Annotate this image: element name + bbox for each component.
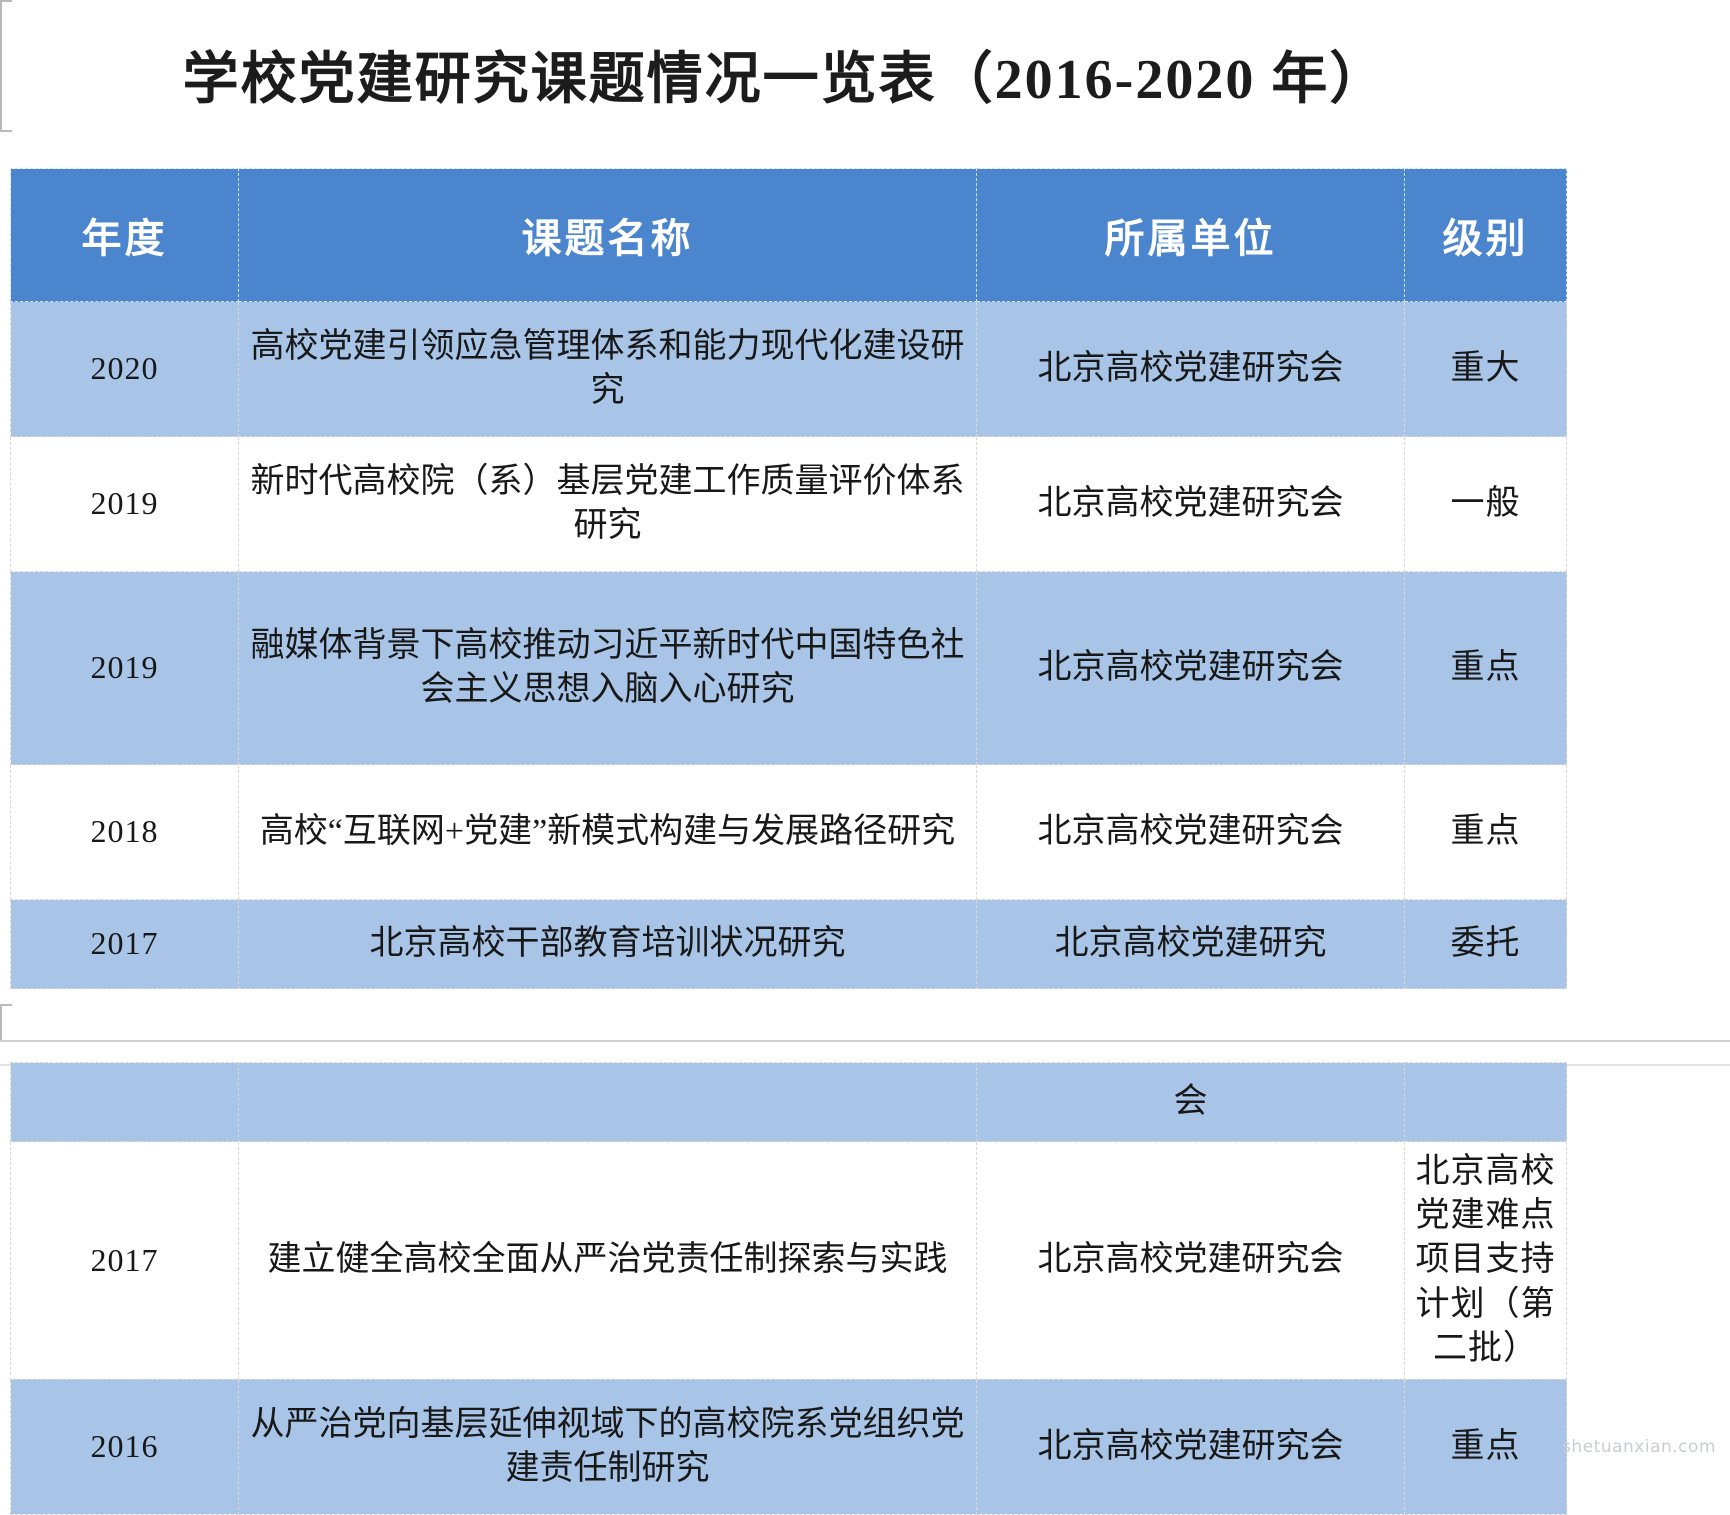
cell-year: 2018 (11, 765, 239, 900)
table-row: 2019 新时代高校院（系）基层党建工作质量评价体系研究 北京高校党建研究会 一… (11, 437, 1567, 572)
cell-name: 北京高校干部教育培训状况研究 (239, 900, 977, 989)
cell-name: 融媒体背景下高校推动习近平新时代中国特色社会主义思想入脑入心研究 (239, 572, 977, 765)
cell-year: 2017 (11, 900, 239, 989)
table-row: 2019 融媒体背景下高校推动习近平新时代中国特色社会主义思想入脑入心研究 北京… (11, 572, 1567, 765)
cell-level: 重点 (1405, 765, 1567, 900)
cell-level (1405, 1063, 1567, 1142)
cell-level: 北京高校党建难点项目支持计划（第二批） (1405, 1142, 1567, 1380)
cell-unit: 北京高校党建研究会 (977, 765, 1405, 900)
cell-unit: 北京高校党建研究会 (977, 302, 1405, 437)
cell-year: 2019 (11, 572, 239, 765)
research-topics-table-bottom: 会 2017 建立健全高校全面从严治党责任制探索与实践 北京高校党建研究会 北京… (10, 1062, 1567, 1515)
site-watermark: shetuanxian.com (1562, 1437, 1716, 1457)
cell-name: 新时代高校院（系）基层党建工作质量评价体系研究 (239, 437, 977, 572)
table-row: 2017 北京高校干部教育培训状况研究 北京高校党建研究 委托 (11, 900, 1567, 989)
table-row: 2020 高校党建引领应急管理体系和能力现代化建设研究 北京高校党建研究会 重大 (11, 302, 1567, 437)
column-header-name: 课题名称 (239, 169, 977, 302)
cell-unit: 北京高校党建研究会 (977, 1142, 1405, 1380)
cell-year: 2017 (11, 1142, 239, 1380)
cell-level: 一般 (1405, 437, 1567, 572)
cell-year: 2016 (11, 1379, 239, 1514)
table-row: 2018 高校“互联网+党建”新模式构建与发展路径研究 北京高校党建研究会 重点 (11, 765, 1567, 900)
cell-unit: 北京高校党建研究会 (977, 1379, 1405, 1514)
cell-level: 重点 (1405, 1379, 1567, 1514)
table-row: 2017 建立健全高校全面从严治党责任制探索与实践 北京高校党建研究会 北京高校… (11, 1142, 1567, 1380)
column-header-unit: 所属单位 (977, 169, 1405, 302)
cell-name: 建立健全高校全面从严治党责任制探索与实践 (239, 1142, 977, 1380)
table-row-continuation: 会 (11, 1063, 1567, 1142)
research-topics-table-top: 年度 课题名称 所属单位 级别 2020 高校党建引领应急管理体系和能力现代化建… (10, 168, 1567, 989)
page-title: 学校党建研究课题情况一览表（2016-2020 年） (0, 34, 1570, 115)
cell-level: 委托 (1405, 900, 1567, 989)
cell-level: 重大 (1405, 302, 1567, 437)
cell-name: 高校“互联网+党建”新模式构建与发展路径研究 (239, 765, 977, 900)
cell-unit: 会 (977, 1063, 1405, 1142)
table-row: 2016 从严治党向基层延伸视域下的高校院系党组织党建责任制研究 北京高校党建研… (11, 1379, 1567, 1514)
cell-year (11, 1063, 239, 1142)
cell-level: 重点 (1405, 572, 1567, 765)
cell-name: 高校党建引领应急管理体系和能力现代化建设研究 (239, 302, 977, 437)
page-title-text: 学校党建研究课题情况一览表（2016-2020 年） (183, 34, 1388, 115)
document-page: 学校党建研究课题情况一览表（2016-2020 年） 年度 课题名称 所属单位 … (0, 0, 1730, 1461)
column-header-level: 级别 (1405, 169, 1567, 302)
table-header-row: 年度 课题名称 所属单位 级别 (11, 169, 1567, 302)
cell-name (239, 1063, 977, 1142)
cell-year: 2019 (11, 437, 239, 572)
cell-name: 从严治党向基层延伸视域下的高校院系党组织党建责任制研究 (239, 1379, 977, 1514)
cell-year: 2020 (11, 302, 239, 437)
cell-unit: 北京高校党建研究 (977, 900, 1405, 989)
cell-unit: 北京高校党建研究会 (977, 572, 1405, 765)
cell-unit: 北京高校党建研究会 (977, 437, 1405, 572)
column-header-year: 年度 (11, 169, 239, 302)
